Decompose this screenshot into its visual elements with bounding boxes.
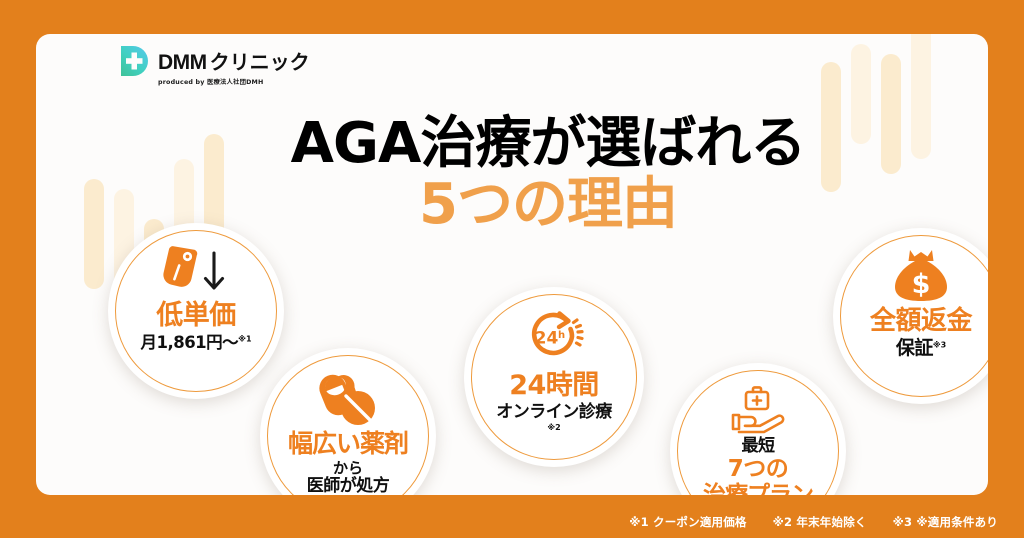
svg-text:$: $: [912, 269, 931, 300]
reason-card-full-refund[interactable]: $ 全額返金 保証※3: [833, 228, 988, 404]
footnote-2: ※2 年末年始除く: [773, 514, 867, 530]
logo-tagline: produced by 医療法人社団DMH: [158, 77, 313, 86]
reason-top-label: 最短: [703, 437, 813, 455]
reason-title: 低単価: [140, 301, 251, 330]
dmm-clinic-cross-d-icon: [118, 44, 152, 78]
reason-note: ※2: [496, 424, 612, 433]
reason-subtitle: 月1,861円〜: [140, 333, 238, 352]
money-bag-dollar-icon: $: [892, 248, 950, 304]
footnotes: ※1 クーポン適用価格 ※2 年末年始除く ※3 ※適用条件あり: [629, 514, 998, 530]
decor-bar-left-0: [84, 179, 104, 289]
svg-text:24: 24: [535, 329, 559, 349]
svg-text:h: h: [558, 330, 565, 341]
decor-bar-right-3: [911, 34, 931, 159]
brand-logo[interactable]: DMM クリニック produced by 医療法人社団DMH: [118, 44, 310, 86]
reason-card-low-price[interactable]: 低単価 月1,861円〜※1: [108, 223, 284, 399]
white-content-card: DMM クリニック produced by 医療法人社団DMH AGA治療が選ば…: [36, 34, 988, 495]
reason-subtitle: 保証: [896, 337, 933, 359]
reason-note: ※3: [933, 341, 946, 350]
reason-title: 24時間: [496, 371, 612, 400]
reason-card-24h-online[interactable]: 24 h 24時間 オンライン診療 ※2: [464, 287, 644, 467]
reason-title: 全額返金: [870, 307, 972, 335]
decor-bar-right-0: [821, 62, 841, 192]
footnote-1: ※1 クーポン適用価格: [629, 514, 746, 530]
clock-24h-icon: 24 h: [523, 309, 585, 367]
pills-capsule-icon: [314, 374, 382, 428]
reason-subtitle: オンライン診療: [496, 403, 612, 421]
reason-title-line1: 7つの: [703, 457, 813, 482]
reason-note: ※1: [238, 335, 251, 344]
decor-bar-right-2: [881, 54, 901, 174]
footnote-3: ※3 ※適用条件あり: [893, 514, 998, 530]
hand-holding-medical-kit-icon: [726, 385, 790, 435]
decor-bar-right-1: [851, 44, 871, 144]
reason-subtitle-line1: から: [288, 460, 408, 476]
reason-subtitle-line2: 医師が処方: [288, 477, 408, 495]
reason-title: 幅広い薬剤: [288, 430, 408, 457]
reason-title-line2: 治療プラン: [703, 483, 813, 495]
logo-brand-suffix: クリニック: [210, 46, 310, 75]
reason-card-wide-range-drugs[interactable]: 幅広い薬剤 から 医師が処方: [260, 348, 436, 495]
infographic-banner: DMM クリニック produced by 医療法人社団DMH AGA治療が選ば…: [0, 0, 1024, 538]
price-tag-down-arrow-icon: [159, 245, 233, 297]
reason-card-seven-plans[interactable]: 最短 7つの 治療プラン: [670, 363, 846, 495]
logo-brand-text: DMM: [158, 51, 207, 75]
